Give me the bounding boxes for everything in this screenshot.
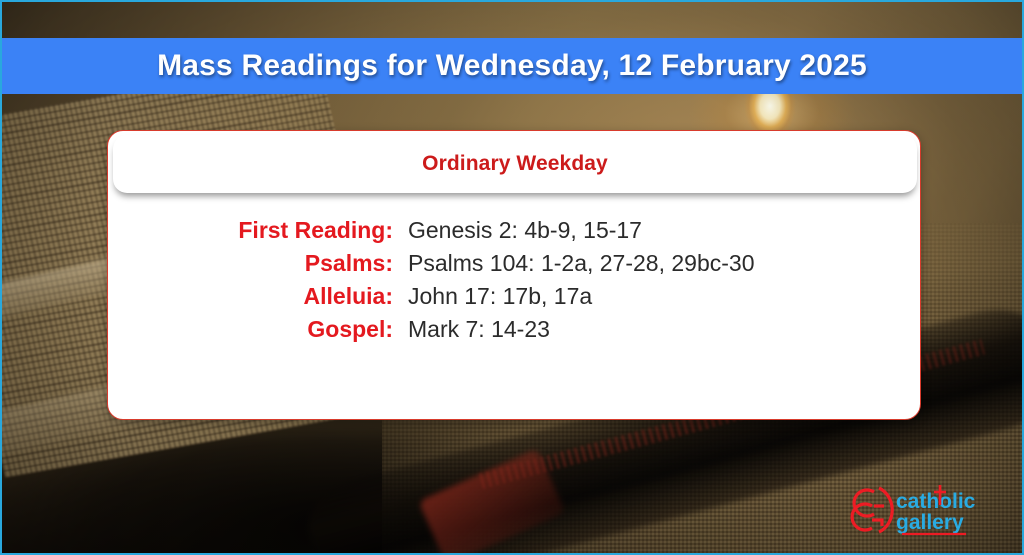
- mass-readings-graphic: Mass Readings for Wednesday, 12 February…: [0, 0, 1024, 555]
- reading-row: First Reading: Genesis 2: 4b-9, 15-17: [108, 217, 920, 244]
- readings-card: Ordinary Weekday First Reading: Genesis …: [107, 130, 921, 420]
- cg-monogram-icon: [852, 488, 892, 532]
- reading-row: Alleluia: John 17: 17b, 17a: [108, 283, 920, 310]
- liturgical-day-title: Ordinary Weekday: [422, 152, 608, 176]
- reading-row: Gospel: Mark 7: 14-23: [108, 316, 920, 343]
- reading-value-alleluia: John 17: 17b, 17a: [408, 283, 592, 310]
- reading-value-gospel: Mark 7: 14-23: [408, 316, 550, 343]
- reading-label-psalms: Psalms:: [108, 250, 393, 277]
- reading-label-gospel: Gospel:: [108, 316, 393, 343]
- logo-line-2: gallery: [896, 511, 964, 534]
- card-header: Ordinary Weekday: [113, 135, 917, 193]
- readings-list: First Reading: Genesis 2: 4b-9, 15-17 Ps…: [108, 217, 920, 343]
- reading-value-first-reading: Genesis 2: 4b-9, 15-17: [408, 217, 642, 244]
- title-bar: Mass Readings for Wednesday, 12 February…: [2, 38, 1022, 94]
- reading-value-psalms: Psalms 104: 1-2a, 27-28, 29bc-30: [408, 250, 754, 277]
- reading-label-alleluia: Alleluia:: [108, 283, 393, 310]
- reading-row: Psalms: Psalms 104: 1-2a, 27-28, 29bc-30: [108, 250, 920, 277]
- logo-line-1: catholic: [896, 490, 976, 513]
- page-title: Mass Readings for Wednesday, 12 February…: [157, 49, 867, 83]
- reading-label-first-reading: First Reading:: [108, 217, 393, 244]
- catholic-gallery-logo: catholic gallery: [848, 479, 1004, 539]
